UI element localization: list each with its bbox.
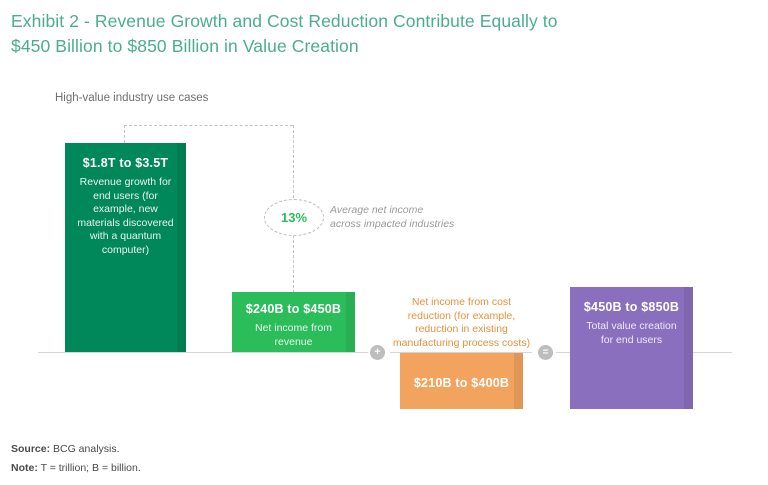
bar-total-value-creation-value: $450B to $850B (579, 299, 684, 315)
footer-source-label: Source: (11, 443, 50, 455)
footer-note-label: Note: (11, 462, 38, 474)
ratio-callout-badge: 13% (264, 199, 324, 236)
dashed-bracket-left-stub (124, 125, 125, 143)
chart-plot-area: High-value industry use cases $1.8T to $… (0, 0, 768, 430)
bar-total-value-creation-description: Total value creation for end users (579, 320, 684, 347)
dashed-bracket-top (124, 125, 293, 126)
footer-source-row: Source: BCG analysis. (11, 440, 141, 459)
bar-net-income-from-revenue-value: $240B to $450B (241, 301, 346, 317)
bar-revenue-growth-content: $1.8T to $3.5T Revenue growth for end us… (65, 143, 186, 257)
plus-operator-icon: + (370, 345, 385, 360)
bar-total-value-creation-content: $450B to $850B Total value creation for … (570, 287, 693, 347)
bar-revenue-growth-description: Revenue growth for end users (for exampl… (74, 176, 177, 257)
bar-net-income-from-cost-reduction[interactable]: $210B to $400B (400, 353, 523, 409)
bar-net-income-from-cost-reduction-description: Net income from cost reduction (for exam… (389, 296, 534, 350)
bar-net-income-from-revenue-description: Net income from revenue (241, 322, 346, 349)
bar-net-income-from-revenue[interactable]: $240B to $450B Net income from revenue (232, 292, 355, 352)
bar-total-value-creation[interactable]: $450B to $850B Total value creation for … (570, 287, 693, 409)
baseline-axis-left (38, 352, 368, 353)
column-header-label: High-value industry use cases (55, 92, 208, 104)
ratio-callout-note-line-1: Average net income (330, 204, 423, 216)
footer-note-value: T = trillion; B = billion. (38, 462, 141, 474)
bar-revenue-growth[interactable]: $1.8T to $3.5T Revenue growth for end us… (65, 143, 186, 352)
bar-net-income-from-cost-reduction-value: $210B to $400B (409, 375, 514, 391)
bar-net-income-from-cost-reduction-content: $210B to $400B (400, 353, 523, 391)
footer-source-value: BCG analysis. (50, 443, 119, 455)
ratio-callout-note-line-2: across impacted industries (330, 218, 454, 230)
ratio-callout-value: 13% (281, 210, 307, 225)
bar-net-income-from-revenue-content: $240B to $450B Net income from revenue (232, 292, 355, 349)
ratio-callout-note: Average net income across impacted indus… (330, 203, 490, 231)
bar-revenue-growth-value: $1.8T to $3.5T (74, 155, 177, 171)
equals-operator-icon: = (538, 345, 553, 360)
footer-note-row: Note: T = trillion; B = billion. (11, 459, 141, 478)
chart-footer: Source: BCG analysis. Note: T = trillion… (11, 440, 141, 478)
